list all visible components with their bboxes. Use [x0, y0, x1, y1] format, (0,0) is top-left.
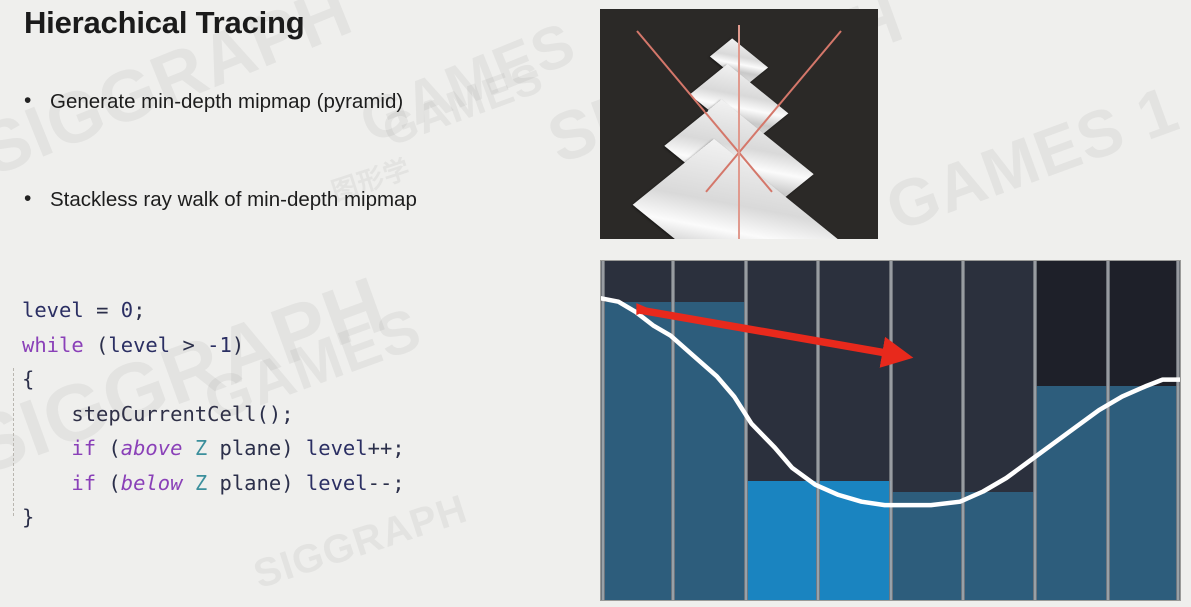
code-token: -1: [207, 333, 232, 357]
code-line-3: stepCurrentCell();: [22, 397, 405, 432]
code-token: ): [232, 333, 244, 357]
code-token: ;: [133, 298, 145, 322]
code-token: --;: [368, 471, 405, 495]
code-token: [22, 471, 71, 495]
code-line-5: if (below Z plane) level--;: [22, 466, 405, 501]
watermark: GAMES 1: [876, 70, 1188, 245]
code-token: [84, 298, 96, 322]
code-token: {: [22, 367, 34, 391]
code-token: above: [121, 436, 183, 460]
code-token: plane): [207, 471, 306, 495]
code-token: [182, 436, 194, 460]
code-token: >: [170, 333, 207, 357]
bullet-text: Generate min-depth mipmap (pyramid): [50, 90, 403, 114]
bullet-text: Stackless ray walk of min-depth mipmap: [50, 188, 417, 212]
bullet-marker-icon: •: [24, 188, 50, 210]
code-token: =: [96, 298, 108, 322]
code-token: if: [71, 471, 96, 495]
code-token: (: [96, 436, 121, 460]
watermark: GAMES: [350, 8, 584, 156]
code-block: level = 0;while (level > -1){ stepCurren…: [22, 293, 405, 535]
code-token: level: [22, 298, 84, 322]
min-depth-cells-chart: [600, 260, 1181, 601]
code-token: stepCurrentCell: [71, 402, 256, 426]
code-token: Z: [195, 436, 207, 460]
code-indent-guide: [13, 368, 14, 516]
slide-canvas: SIGGRAPH GAMES GAMES SIGGRAPH GAMES 1 SI…: [0, 0, 1191, 607]
code-token: [22, 402, 71, 426]
code-token: (: [96, 471, 121, 495]
ray-arrow-icon: [601, 261, 1181, 601]
code-line-6: }: [22, 500, 405, 535]
code-token: }: [22, 505, 34, 529]
bullet-item-1: • Stackless ray walk of min-depth mipmap: [24, 188, 417, 212]
code-token: (: [84, 333, 109, 357]
code-token: Z: [195, 471, 207, 495]
code-token: if: [71, 436, 96, 460]
code-token: 0: [121, 298, 133, 322]
code-token: level: [108, 333, 170, 357]
mipmap-pyramid-image: [600, 9, 878, 239]
code-token: ();: [257, 402, 294, 426]
code-token: [22, 436, 71, 460]
code-token: plane): [207, 436, 306, 460]
bullet-marker-icon: •: [24, 90, 50, 112]
page-title: Hierachical Tracing: [24, 5, 305, 41]
code-line-2: {: [22, 362, 405, 397]
pyramid-sample-point: [705, 109, 708, 112]
code-token: below: [121, 471, 183, 495]
bullet-item-0: • Generate min-depth mipmap (pyramid): [24, 90, 403, 114]
code-token: level: [306, 471, 368, 495]
code-token: ++;: [368, 436, 405, 460]
code-token: [108, 298, 120, 322]
code-token: [182, 471, 194, 495]
pyramid-center-axis: [738, 25, 740, 239]
code-token: while: [22, 333, 84, 357]
code-line-0: level = 0;: [22, 293, 405, 328]
code-token: level: [306, 436, 368, 460]
code-line-1: while (level > -1): [22, 328, 405, 363]
code-line-4: if (above Z plane) level++;: [22, 431, 405, 466]
